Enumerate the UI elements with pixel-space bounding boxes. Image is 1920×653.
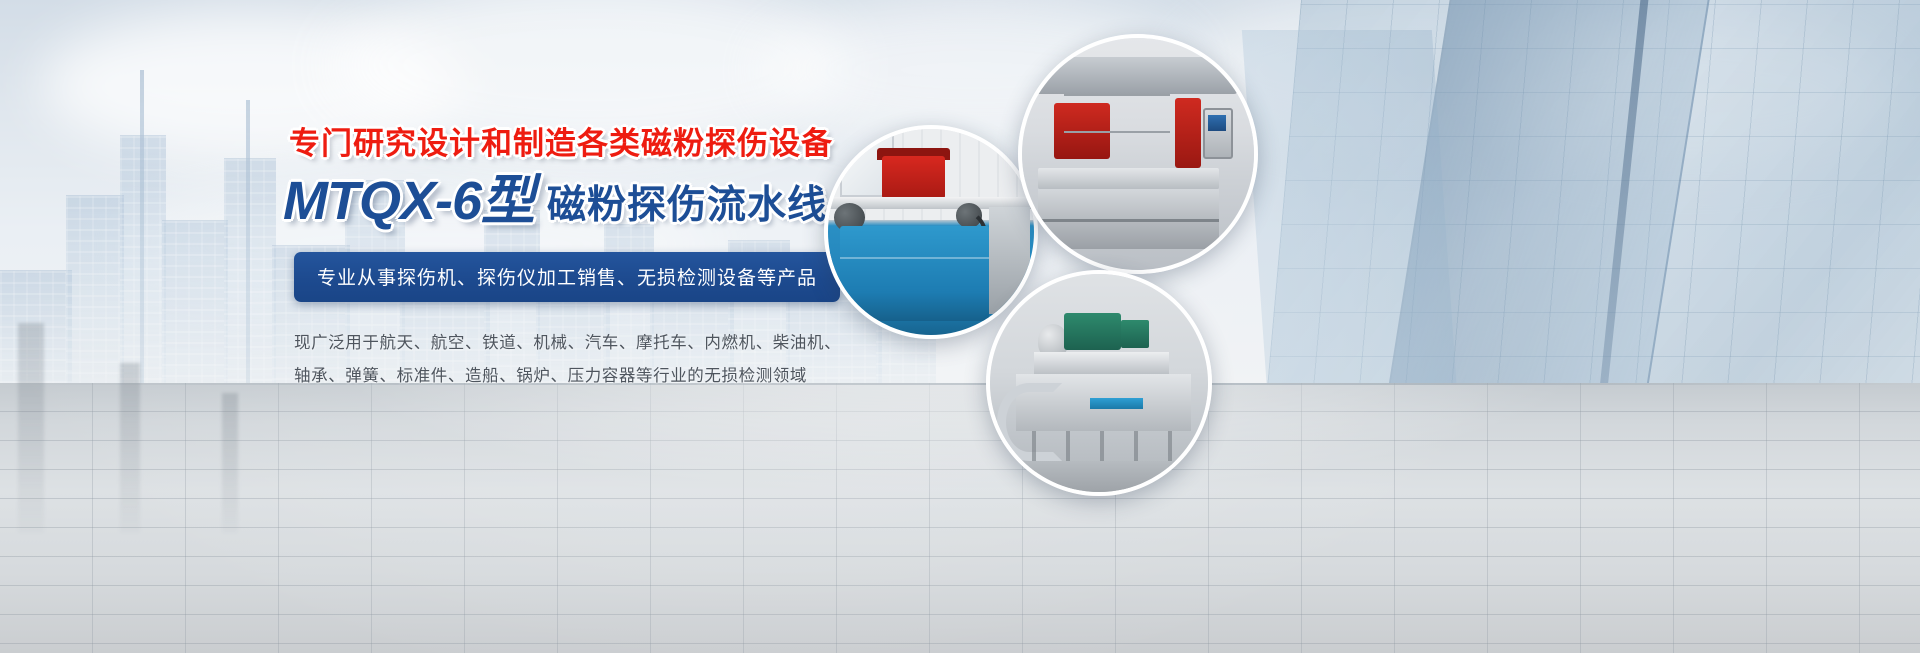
photo-circle-conveyor-line[interactable]	[986, 270, 1212, 496]
building-spire	[140, 70, 144, 420]
description-line-2: 轴承、弹簧、标准件、造船、锅炉、压力容器等行业的无损检测领域	[294, 360, 903, 393]
photo-floor	[990, 461, 1208, 492]
photo-rail	[1064, 131, 1171, 133]
banner-description: 现广泛用于航天、航空、铁道、机械、汽车、摩托车、内燃机、柴油机、 轴承、弹簧、标…	[294, 327, 903, 393]
photo-content	[1022, 38, 1254, 270]
pillar-silhouette	[222, 393, 238, 533]
photo-green-unit	[1064, 313, 1121, 350]
building-spire	[246, 100, 250, 420]
photo-work-tray	[1038, 168, 1219, 189]
photo-hood	[1034, 57, 1238, 94]
banner-copy: 专门研究设计和制造各类磁粉探伤设备 MTQX-6型 磁粉探伤流水线 专业从事探伤…	[283, 125, 903, 393]
photo-content	[990, 274, 1208, 492]
building	[224, 158, 276, 420]
photo-rail	[1064, 94, 1171, 96]
pillar-silhouette	[18, 323, 44, 533]
photo-green-unit	[1121, 320, 1149, 348]
headline-red: 专门研究设计和制造各类磁粉探伤设备	[289, 125, 903, 164]
pillar-silhouette	[120, 363, 140, 533]
banner-title-row: MTQX-6型 磁粉探伤流水线	[283, 174, 903, 228]
photo-red-cabinet	[1175, 98, 1201, 168]
product-model-title: MTQX-6型	[283, 174, 534, 228]
photo-cabinet-seam	[840, 257, 988, 259]
services-pill-badge[interactable]: 专业从事探伤机、探伤仪加工销售、无损检测设备等产品	[294, 252, 840, 302]
photo-blue-band	[1090, 398, 1142, 409]
description-line-1: 现广泛用于航天、航空、铁道、机械、汽车、摩托车、内燃机、柴油机、	[294, 327, 903, 360]
photo-panel-screen	[1208, 115, 1227, 131]
product-name-title: 磁粉探伤流水线	[547, 186, 827, 228]
photo-circle-inspection-booth[interactable]	[1018, 34, 1258, 274]
ground-highlight	[0, 383, 1920, 653]
photo-hood	[1034, 352, 1169, 374]
plaza-ground	[0, 383, 1920, 653]
photo-blue-cabinet	[840, 226, 988, 321]
hero-banner: 专门研究设计和制造各类磁粉探伤设备 MTQX-6型 磁粉探伤流水线 专业从事探伤…	[0, 0, 1920, 653]
photo-red-housing	[882, 156, 946, 199]
photo-body-seam	[1038, 219, 1219, 222]
